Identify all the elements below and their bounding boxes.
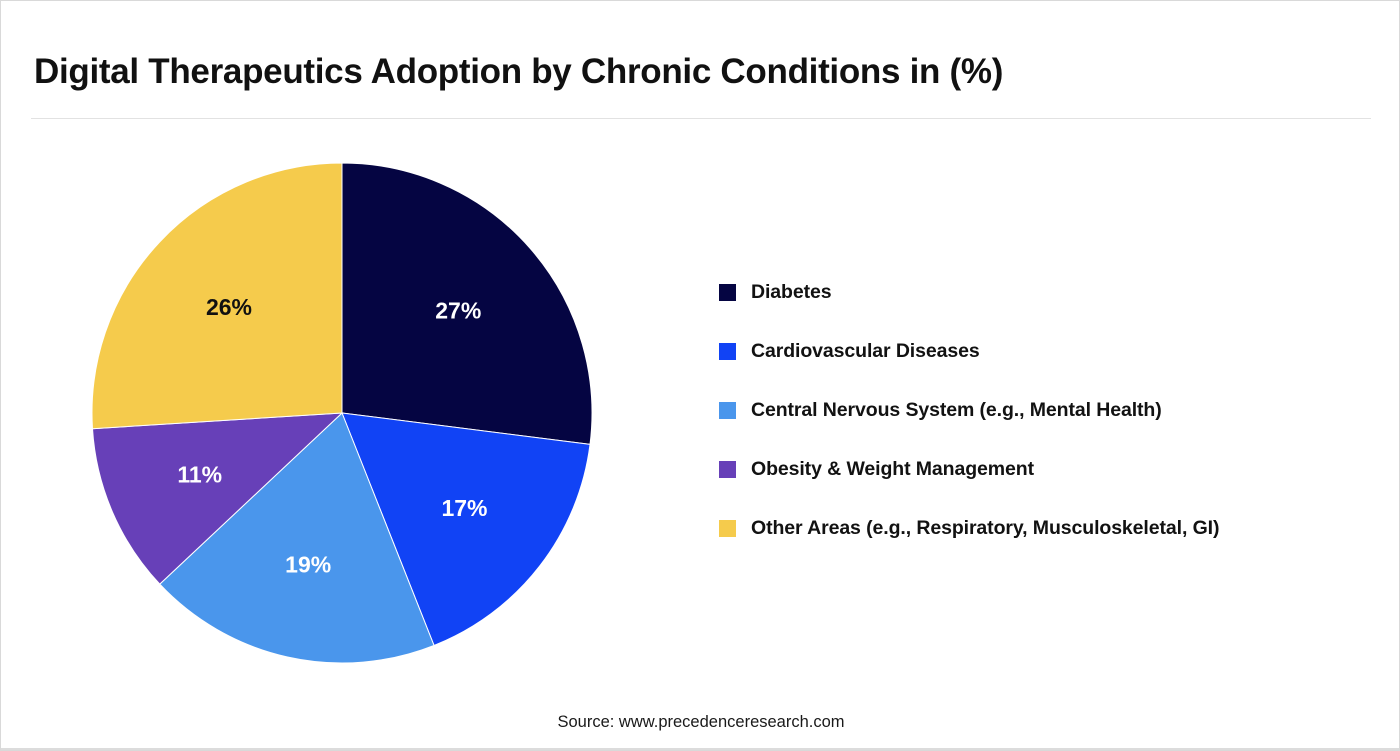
legend-item[interactable]: Cardiovascular Diseases — [719, 322, 1379, 381]
pie-slice-label: 27% — [435, 298, 481, 324]
pie-slice-label: 17% — [441, 495, 487, 521]
legend-item-label: Diabetes — [751, 281, 832, 304]
pie-slice-label: 11% — [177, 462, 222, 488]
pie-slices-group — [92, 163, 592, 663]
legend-swatch-other — [719, 520, 736, 537]
legend-item[interactable]: Obesity & Weight Management — [719, 440, 1379, 499]
legend-item-label: Central Nervous System (e.g., Mental Hea… — [751, 399, 1162, 422]
legend-swatch-diabetes — [719, 284, 736, 301]
legend-item-label: Obesity & Weight Management — [751, 458, 1034, 481]
page-title: Digital Therapeutics Adoption by Chronic… — [34, 52, 1364, 92]
legend-item[interactable]: Other Areas (e.g., Respiratory, Musculos… — [719, 499, 1379, 558]
legend-item-label: Cardiovascular Diseases — [751, 340, 980, 363]
legend-swatch-obesity — [719, 461, 736, 478]
legend-item[interactable]: Central Nervous System (e.g., Mental Hea… — [719, 381, 1379, 440]
legend-swatch-cardiovascular — [719, 343, 736, 360]
source-note: Source: www.precedenceresearch.com — [1, 713, 1400, 732]
legend-item[interactable]: Diabetes — [719, 263, 1379, 322]
pie-slice-label: 19% — [285, 551, 331, 577]
legend-swatch-cns — [719, 402, 736, 419]
pie-chart-area: 27%17%19%11%26% — [1, 131, 701, 691]
pie-slice-label: 26% — [206, 294, 252, 320]
chart-legend: DiabetesCardiovascular DiseasesCentral N… — [719, 263, 1379, 558]
bottom-rule — [1, 748, 1400, 750]
legend-item-label: Other Areas (e.g., Respiratory, Musculos… — [751, 517, 1219, 540]
title-divider — [31, 118, 1371, 119]
pie-chart-svg: 27%17%19%11%26% — [1, 131, 701, 691]
chart-figure: Digital Therapeutics Adoption by Chronic… — [0, 0, 1400, 751]
